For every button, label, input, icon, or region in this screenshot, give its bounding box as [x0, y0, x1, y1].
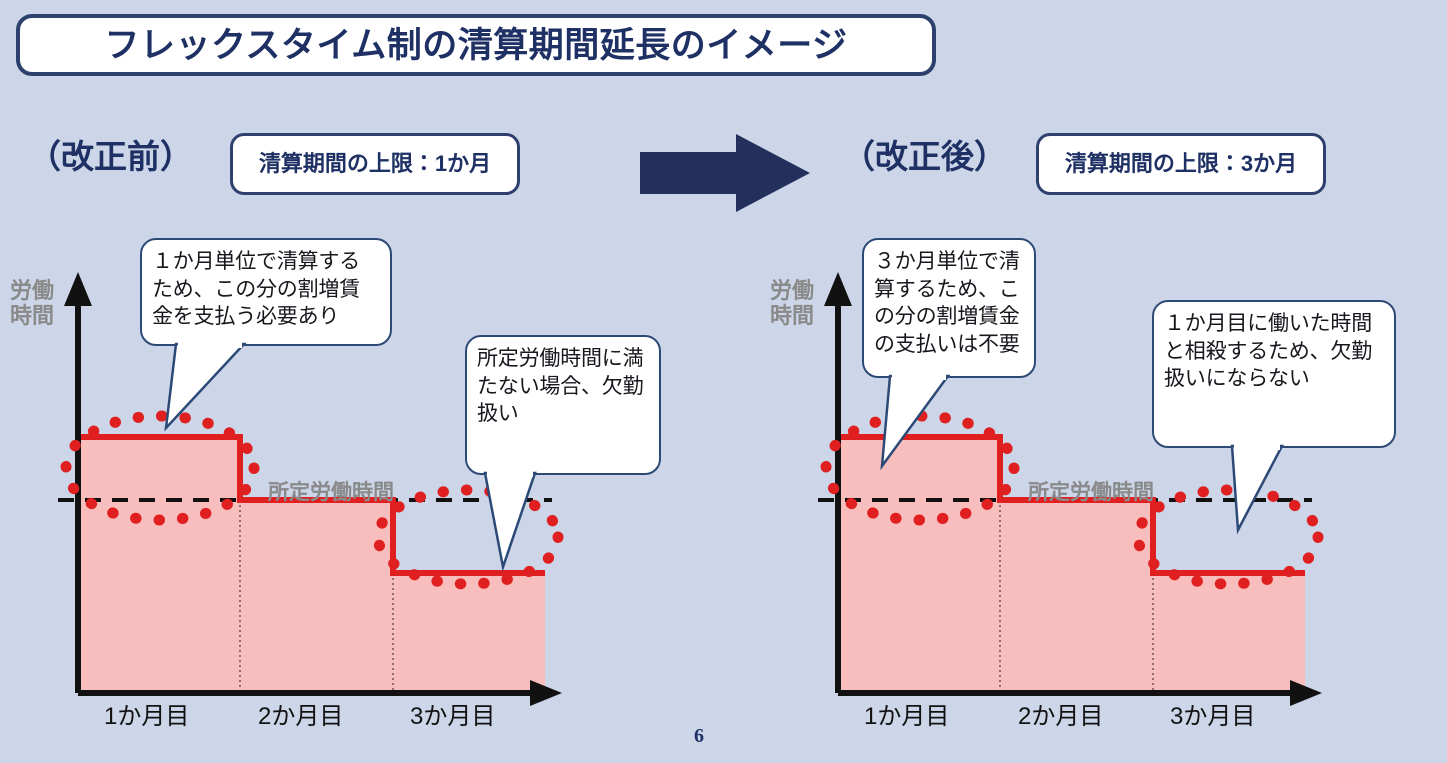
callout-before-absence-text: 所定労働時間に満たない場合、欠勤扱い: [477, 345, 649, 428]
chart-before-xtick-3: 3か月目: [410, 705, 495, 729]
callout-before-overtime: １か月単位で清算するため、この分の割増賃金を支払う必要あり: [140, 238, 392, 346]
chart-before-xtick-2: 2か月目: [258, 705, 343, 729]
chart-after-xtick-2: 2か月目: [1018, 705, 1103, 729]
pill-after: 清算期間の上限：3か月: [1036, 133, 1326, 195]
callout-tail: [477, 473, 547, 569]
slide-title-box: フレックスタイム制の清算期間延長のイメージ: [16, 14, 936, 76]
callout-after-overtime-text: ３か月単位で清算するため、この分の割増賃金の支払いは不要: [874, 248, 1024, 359]
callout-after-absence-text: １か月目に働いた時間と相殺するため、欠勤扱いにならない: [1164, 310, 1384, 393]
callout-before-overtime-text: １か月単位で清算するため、この分の割増賃金を支払う必要あり: [152, 248, 380, 331]
right-block-arrow-icon: [640, 134, 810, 212]
chart-after-reference-label: 所定労働時間: [1028, 482, 1154, 503]
callout-after-overtime: ３か月単位で清算するため、この分の割増賃金の支払いは不要: [862, 238, 1036, 378]
section-label-before: （改正前）: [28, 140, 193, 173]
chart-after-xtick-3: 3か月目: [1170, 705, 1255, 729]
callout-after-absence: １か月目に働いた時間と相殺するため、欠勤扱いにならない: [1152, 300, 1396, 448]
pill-before: 清算期間の上限：1か月: [230, 133, 520, 195]
chart-after-xtick-1: 1か月目: [864, 705, 949, 729]
chart-before-reference-label: 所定労働時間: [268, 482, 394, 503]
page-title: フレックスタイム制の清算期間延長のイメージ: [104, 28, 847, 63]
callout-tail: [1178, 446, 1288, 532]
chart-before-xtick-1: 1か月目: [104, 705, 189, 729]
pill-after-text: 清算期間の上限：3か月: [1065, 153, 1297, 175]
page-number: 6: [694, 726, 704, 746]
callout-before-absence: 所定労働時間に満たない場合、欠勤扱い: [465, 335, 661, 475]
callout-tail: [158, 344, 298, 430]
slide-root: フレックスタイム制の清算期間延長のイメージ （改正前） 清算期間の上限：1か月 …: [0, 0, 1447, 763]
section-label-after: （改正後）: [842, 140, 1007, 173]
pill-before-text: 清算期間の上限：1か月: [259, 153, 491, 175]
callout-tail: [876, 376, 966, 468]
